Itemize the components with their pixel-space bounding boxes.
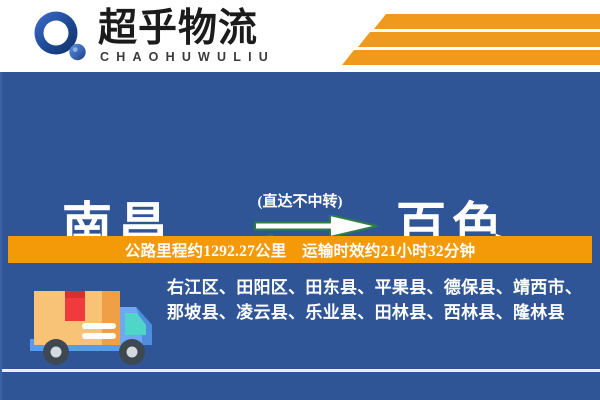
coverage-area-list: 右江区、田阳区、田东县、平果县、德保县、靖西市、 那坡县、凌云县、乐业县、田林县… (167, 275, 587, 325)
q-ring-logo-icon (33, 10, 89, 62)
left-edge-accent (0, 72, 2, 400)
coverage-panel: 右江区、田阳区、田东县、平果县、德保县、靖西市、 那坡县、凌云县、乐业县、田林县… (0, 263, 600, 400)
delivery-truck-icon (24, 273, 160, 373)
direct-route-note: (直达不中转) (0, 190, 600, 211)
logistics-route-banner: 超乎物流 CHAOHUWULIU 南昌 百色 (直达不中转) 【往返运输】 公路… (0, 0, 600, 400)
route-panel: 南昌 百色 (直达不中转) 【往返运输】 (0, 72, 600, 236)
bottom-divider (0, 369, 600, 372)
brand-name-cn: 超乎物流 (98, 8, 258, 49)
brand-name-pinyin: CHAOHUWULIU (100, 50, 275, 64)
speed-stripes-icon (330, 6, 600, 66)
route-info-text: 公路里程约1292.27公里 运输时效约21小时32分钟 (125, 239, 475, 261)
coverage-line-2: 那坡县、凌云县、乐业县、田林县、西林县、隆林县 (167, 300, 587, 325)
coverage-line-1: 右江区、田阳区、田东县、平果县、德保县、靖西市、 (167, 275, 587, 300)
banner-header: 超乎物流 CHAOHUWULIU (0, 0, 600, 72)
route-info-bar: 公路里程约1292.27公里 运输时效约21小时32分钟 (8, 236, 592, 263)
